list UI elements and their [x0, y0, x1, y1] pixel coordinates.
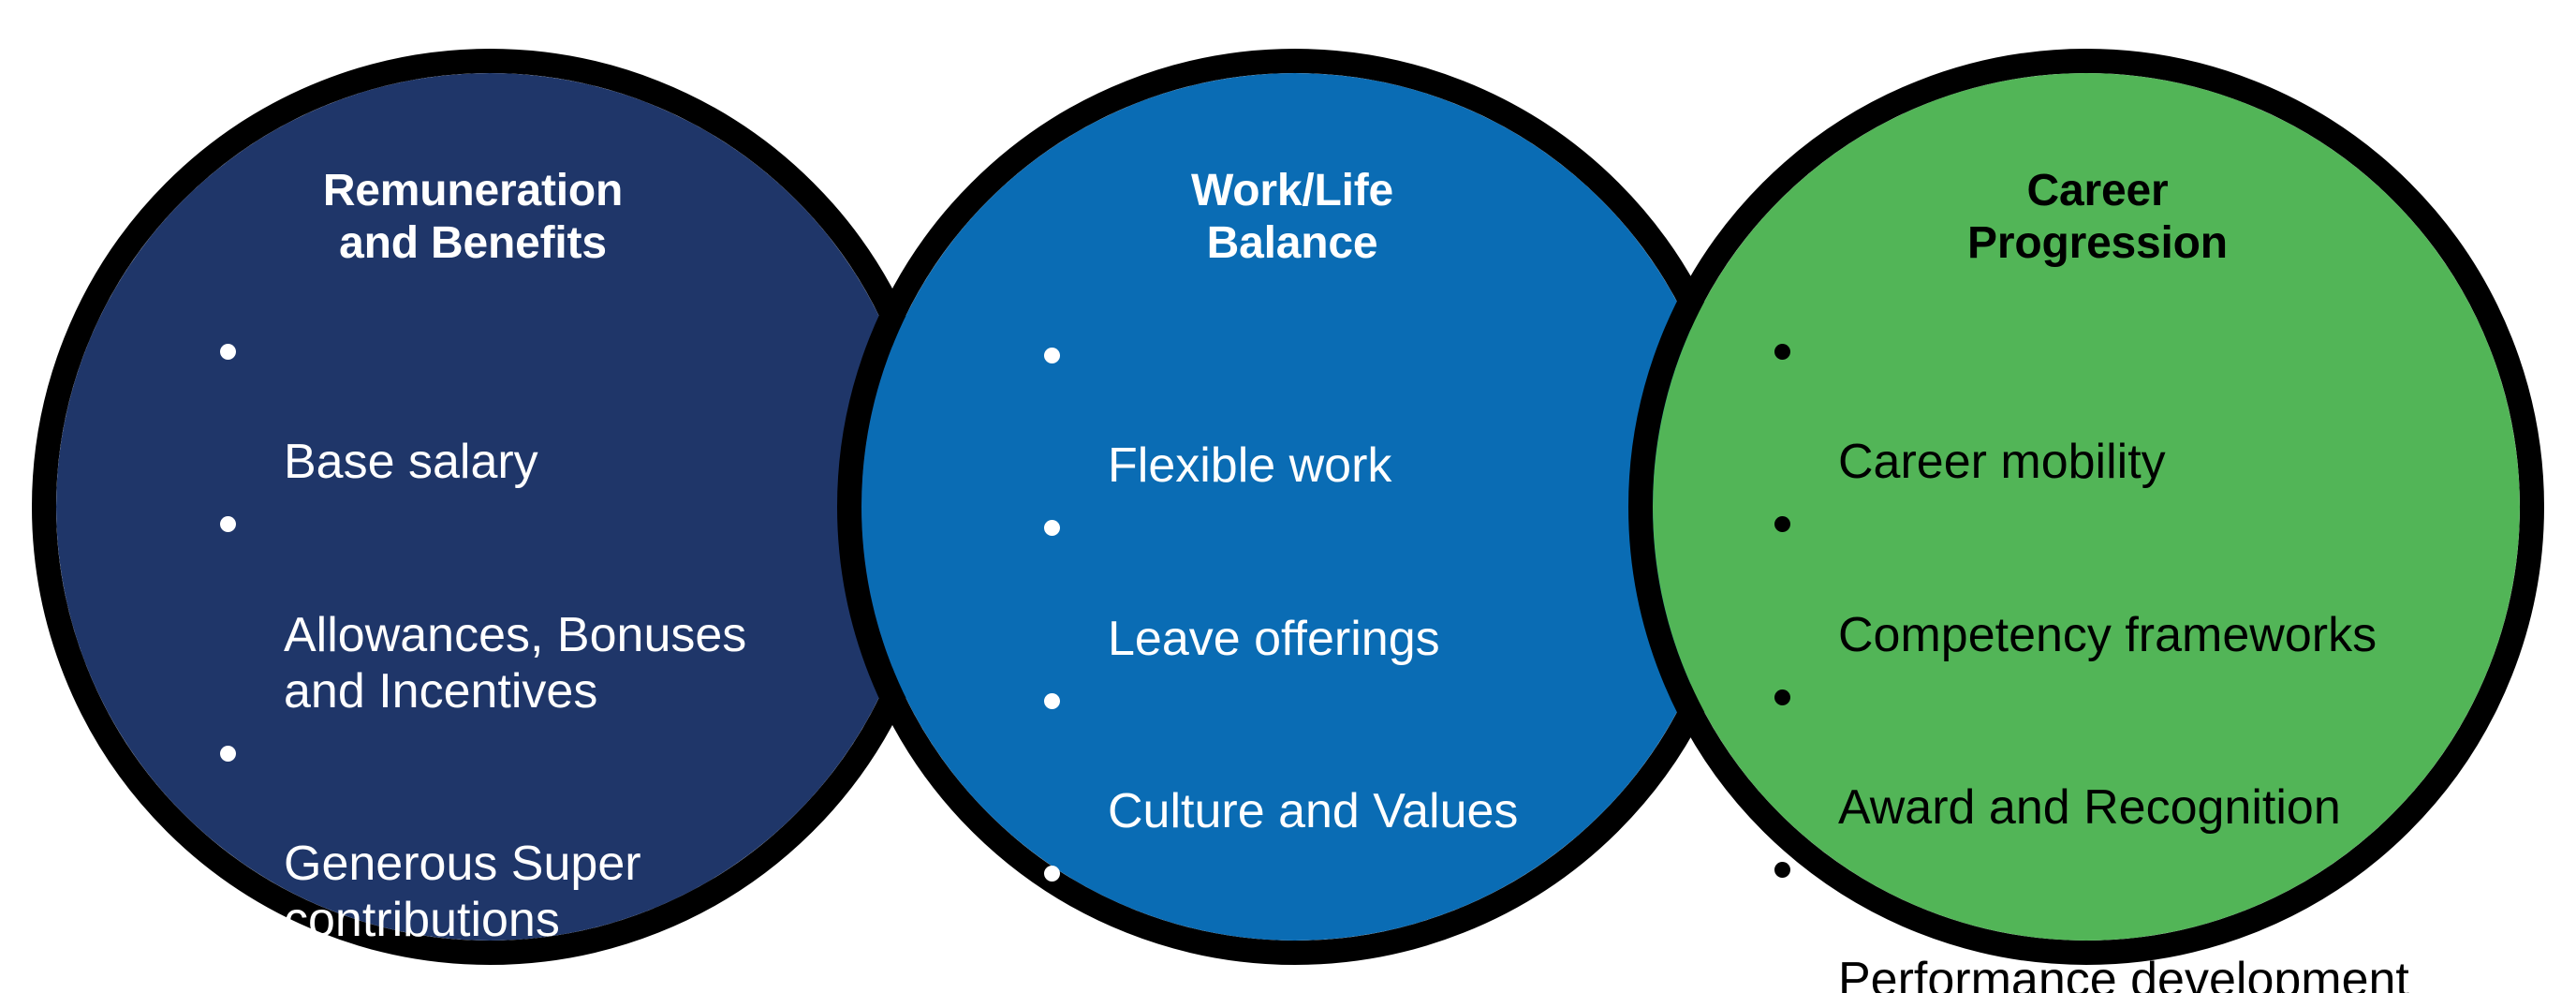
list-item-label: Flexible work — [1108, 438, 1391, 493]
list-item: Career mobility — [1774, 321, 2519, 490]
list-career-progression: Career mobility Competency frameworks Aw… — [1676, 321, 2519, 993]
list-item-label: Culture and Values — [1108, 784, 1518, 838]
list-item-label: Allowances, Bonuses and Incentives — [284, 608, 746, 719]
bullet-dot-icon — [220, 746, 236, 762]
list-item: Culture and Values — [1044, 671, 1714, 839]
bullet-dot-icon — [1044, 693, 1060, 709]
list-item: Base salary — [220, 321, 894, 490]
bullet-dot-icon — [1044, 866, 1060, 882]
list-item-label: Career mobility — [1838, 435, 2166, 489]
content-remuneration-and-benefits: Remuneration and Benefits Base salary Al… — [52, 165, 894, 993]
list-item-label: Leave offerings — [1108, 612, 1440, 666]
bullet-dot-icon — [220, 974, 236, 990]
list-item: Leave offerings — [1044, 497, 1714, 666]
bullet-dot-icon — [1774, 689, 1790, 705]
list-item: Allowances, Bonuses and Incentives — [220, 494, 894, 719]
list-item: EAP — [1044, 843, 1714, 993]
bullet-dot-icon — [1774, 862, 1790, 878]
list-remuneration-and-benefits: Base salary Allowances, Bonuses and Ince… — [52, 321, 894, 993]
list-item: Performance development — [1774, 839, 2519, 993]
bullet-dot-icon — [220, 516, 236, 532]
list-item: Generous Super contributions — [220, 723, 894, 948]
list-item: Three-part Insurance — [220, 952, 894, 993]
bullet-dot-icon — [1774, 344, 1790, 360]
list-item-label: Award and Recognition — [1838, 780, 2341, 835]
bullet-dot-icon — [220, 344, 236, 360]
list-item: Flexible work — [1044, 325, 1714, 494]
list-work-life-balance: Flexible work Leave offerings Culture an… — [871, 325, 1714, 993]
list-item: Competency frameworks — [1774, 494, 2519, 662]
list-item-label: EAP — [1108, 956, 1205, 993]
bullet-dot-icon — [1774, 516, 1790, 532]
title-career-progression: Career Progression — [1676, 165, 2519, 269]
content-career-progression: Career Progression Career mobility Compe… — [1676, 165, 2519, 993]
list-item-label: Generous Super contributions — [284, 837, 641, 947]
title-remuneration-and-benefits: Remuneration and Benefits — [52, 165, 894, 269]
list-item: Award and Recognition — [1774, 667, 2519, 836]
bullet-dot-icon — [1044, 348, 1060, 363]
bullet-dot-icon — [1044, 520, 1060, 536]
list-item-label: Competency frameworks — [1838, 608, 2377, 662]
title-work-life-balance: Work/Life Balance — [871, 165, 1714, 269]
list-item-label: Base salary — [284, 435, 538, 489]
list-item-label: Performance development — [1838, 953, 2409, 993]
diagram-canvas: Remuneration and Benefits Base salary Al… — [0, 0, 2576, 993]
content-work-life-balance: Work/Life Balance Flexible work Leave of… — [871, 165, 1714, 993]
